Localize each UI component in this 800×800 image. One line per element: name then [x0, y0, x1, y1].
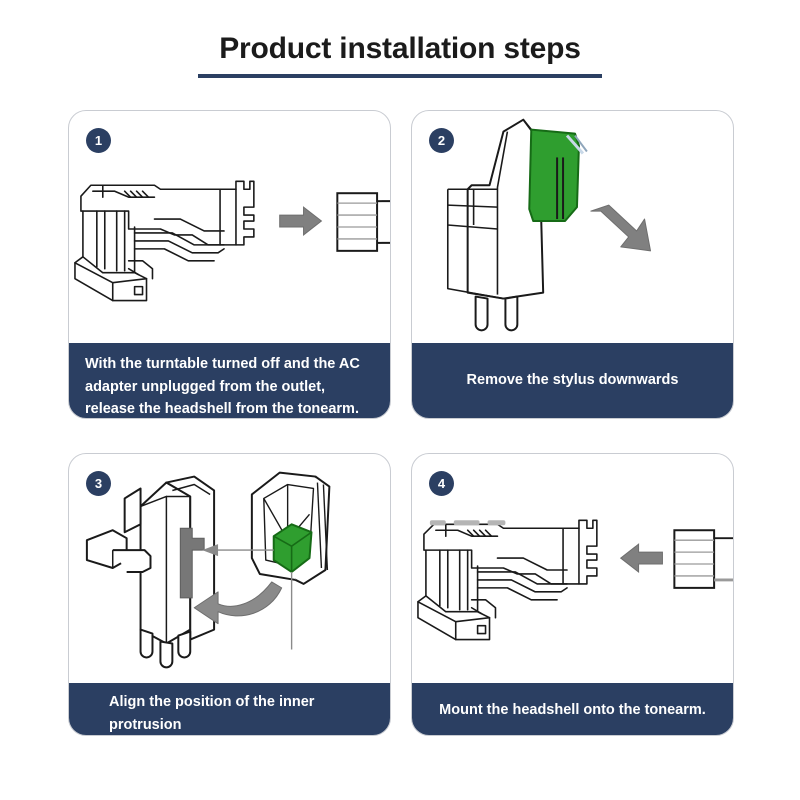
steps-grid: 1 — [68, 110, 734, 736]
page-title-block: Product installation steps — [0, 30, 800, 78]
step-number-badge-1: 1 — [86, 128, 111, 153]
step-4-illustration-area: 4 — [412, 454, 733, 683]
step-card-4[interactable]: 4 — [411, 453, 734, 736]
headshell-tonearm-drawing-4 — [412, 454, 733, 683]
step-3-caption: Align the position of the inner protrusi… — [69, 683, 390, 736]
cartridge-alignment-drawing-3 — [69, 454, 390, 683]
page-title: Product installation steps — [0, 30, 800, 68]
arrow-left-icon — [621, 544, 663, 572]
step-1-illustration-area: 1 — [69, 111, 390, 343]
arrow-down-right-icon — [591, 205, 651, 251]
tonearm-connector — [337, 193, 390, 251]
step-4-caption: Mount the headshell onto the tonearm. — [412, 683, 733, 736]
step-2-illustration-area: 2 — [412, 111, 733, 343]
cartridge-stylus-drawing-2 — [412, 111, 733, 343]
step-number-badge-2: 2 — [429, 128, 454, 153]
step-1-caption: With the turntable turned off and the AC… — [69, 343, 390, 419]
step-card-3[interactable]: 3 — [68, 453, 391, 736]
step-3-illustration-area: 3 — [69, 454, 390, 683]
step-card-2[interactable]: 2 — [411, 110, 734, 419]
arrow-right-icon — [280, 207, 322, 235]
step-number-badge-3: 3 — [86, 471, 111, 496]
step-card-1[interactable]: 1 — [68, 110, 391, 419]
step-2-caption: Remove the stylus downwards — [412, 343, 733, 419]
green-stylus-guard — [529, 130, 587, 221]
title-underline — [198, 74, 602, 78]
step-number-badge-4: 4 — [429, 471, 454, 496]
headshell-tonearm-drawing-1 — [69, 111, 390, 343]
tonearm-connector — [674, 530, 733, 588]
installation-steps-page: Product installation steps 1 — [0, 0, 800, 800]
mount-tabs — [430, 520, 506, 525]
